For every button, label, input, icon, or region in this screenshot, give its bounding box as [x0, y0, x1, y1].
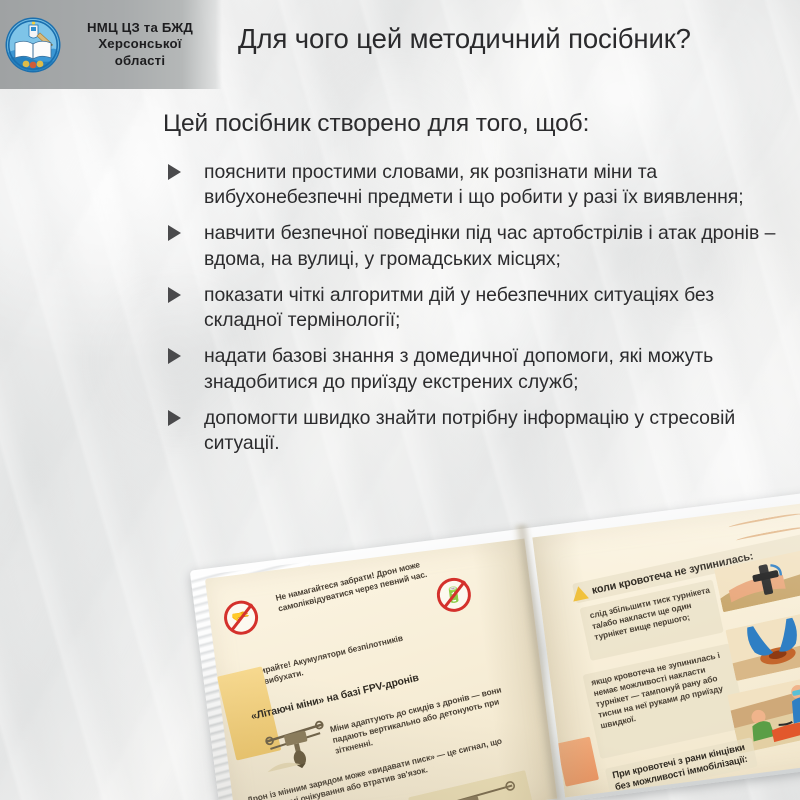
triangle-right-icon — [168, 225, 181, 241]
list-item: допомогти швидко знайти потрібну інформа… — [166, 406, 781, 456]
brand-name-line-1: НМЦ ЦЗ та БЖД — [65, 20, 215, 36]
bullet-list: пояснити простими словами, як розпізнати… — [166, 160, 781, 467]
list-item-text: допомогти швидко знайти потрібну інформа… — [204, 407, 735, 454]
triangle-right-icon — [168, 410, 181, 426]
booklet-right-page: коли кровотеча не зупинилась: слід збіль… — [532, 499, 800, 798]
list-item: надати базові знання з домедичної допомо… — [166, 344, 781, 394]
emblem-book-quill-shield-icon — [7, 19, 59, 71]
page-title: Для чого цей методичний посібник? — [238, 21, 738, 56]
list-item: пояснити простими словами, як розпізнати… — [166, 160, 781, 210]
warning-triangle-icon — [570, 585, 589, 602]
triangle-right-icon — [168, 348, 181, 364]
lead-text: Цей посібник створено для того, щоб: — [163, 110, 763, 138]
gloved-hands-wound-packing-illustration — [725, 611, 800, 681]
brand-name: НМЦ ЦЗ та БЖД Херсонської області — [65, 20, 215, 68]
booklet-orange-tab — [556, 737, 599, 787]
no-disassemble-icon: 🔋 — [435, 576, 473, 614]
list-item: показати чіткі алгоритми дій у небезпечн… — [166, 283, 781, 333]
brand-name-line-3: області — [65, 53, 215, 69]
list-item-text: навчити безпечної поведінки під час арто… — [204, 222, 775, 269]
list-item: навчити безпечної поведінки під час арто… — [166, 221, 781, 271]
wave-decoration-icon — [728, 512, 800, 530]
no-pickup-glyph: 🫳 — [229, 605, 254, 630]
triangle-right-icon — [168, 287, 181, 303]
no-pickup-icon: 🫳 — [222, 599, 260, 637]
brand-bar: НМЦ ЦЗ та БЖД Херсонської області — [0, 0, 222, 89]
list-item-text: показати чіткі алгоритми дій у небезпечн… — [204, 284, 714, 331]
no-disassemble-glyph: 🔋 — [442, 583, 467, 608]
slide-root: НМЦ ЦЗ та БЖД Херсонської області Для чо… — [0, 0, 800, 800]
brand-name-line-2: Херсонської — [65, 36, 215, 52]
list-item-text: надати базові знання з домедичної допомо… — [204, 345, 713, 392]
triangle-right-icon — [168, 164, 181, 180]
list-item-text: пояснити простими словами, як розпізнати… — [204, 161, 744, 208]
booklet-left-page: 🫳 🔋 Не намагайтеся забрати! Дрон може са… — [205, 539, 557, 800]
